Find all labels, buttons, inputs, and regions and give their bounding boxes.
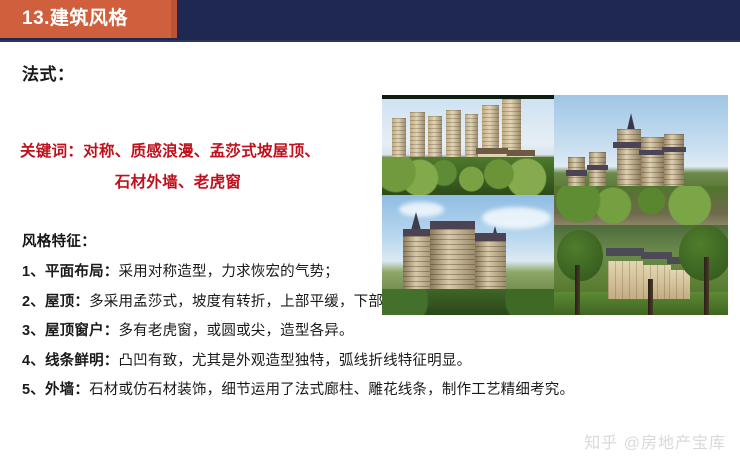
slide-root: 13.建筑风格 法式： 关键词：对称、质感浪漫、孟莎式坡屋顶、 石材外墙、老虎窗… xyxy=(0,0,740,463)
keywords-line-1: 关键词：对称、质感浪漫、孟莎式坡屋顶、 xyxy=(20,136,372,167)
feature-number-4: 4、 xyxy=(22,353,45,369)
feature-label-1: 平面布局： xyxy=(45,264,119,280)
watermark: 知乎 @房地产宝库 xyxy=(584,429,726,453)
feature-text-2: 多采用孟莎式，坡度有转折，上部平缓，下部陡直。 xyxy=(89,294,427,310)
photo-highrise-cluster xyxy=(382,99,554,195)
feature-text-5: 石材或仿石材装饰，细节运用了法式廊柱、雕花线条，制作工艺精细考究。 xyxy=(89,382,574,398)
feature-label-5: 外墙： xyxy=(45,382,89,398)
feature-number-3: 3、 xyxy=(22,323,45,339)
feature-text-4: 凸凹有致，尤其是外观造型独特，弧线折线特征明显。 xyxy=(118,353,471,369)
feature-number-5: 5、 xyxy=(22,382,45,398)
feature-label-4: 线条鲜明： xyxy=(45,353,119,369)
header-tab-edge xyxy=(171,0,177,38)
feature-number-1: 1、 xyxy=(22,264,45,280)
slide-header: 13.建筑风格 xyxy=(0,0,740,43)
feature-item-4: 4、线条鲜明：凸凹有致，尤其是外观造型独特，弧线折线特征明显。 xyxy=(22,347,722,377)
features-title: 风格特征： xyxy=(22,230,96,251)
slide-body: 法式： 关键词：对称、质感浪漫、孟莎式坡屋顶、 石材外墙、老虎窗 风格特征： 1… xyxy=(0,43,740,463)
feature-item-3: 3、屋顶窗户：多有老虎窗，或圆或尖，造型各异。 xyxy=(22,317,722,347)
feature-text-3: 多有老虎窗，或圆或尖，造型各异。 xyxy=(118,323,353,339)
feature-text-1: 采用对称造型，力求恢宏的气势； xyxy=(118,264,339,280)
feature-label-3: 屋顶窗户： xyxy=(45,323,119,339)
photo-collage xyxy=(382,95,728,315)
feature-label-2: 屋顶： xyxy=(45,294,89,310)
feature-number-2: 2、 xyxy=(22,294,45,310)
photo-french-midrise-spire xyxy=(554,95,728,225)
page-title: 13.建筑风格 xyxy=(22,6,128,32)
photo-french-villas xyxy=(554,225,728,315)
feature-item-5: 5、外墙：石材或仿石材装饰，细节运用了法式廊柱、雕花线条，制作工艺精细考究。 xyxy=(22,376,722,406)
style-title: 法式： xyxy=(22,60,75,85)
photo-french-tower-mansard xyxy=(382,195,554,315)
keywords-block: 关键词：对称、质感浪漫、孟莎式坡屋顶、 石材外墙、老虎窗 xyxy=(20,136,372,198)
keywords-line-2: 石材外墙、老虎窗 xyxy=(20,167,372,198)
